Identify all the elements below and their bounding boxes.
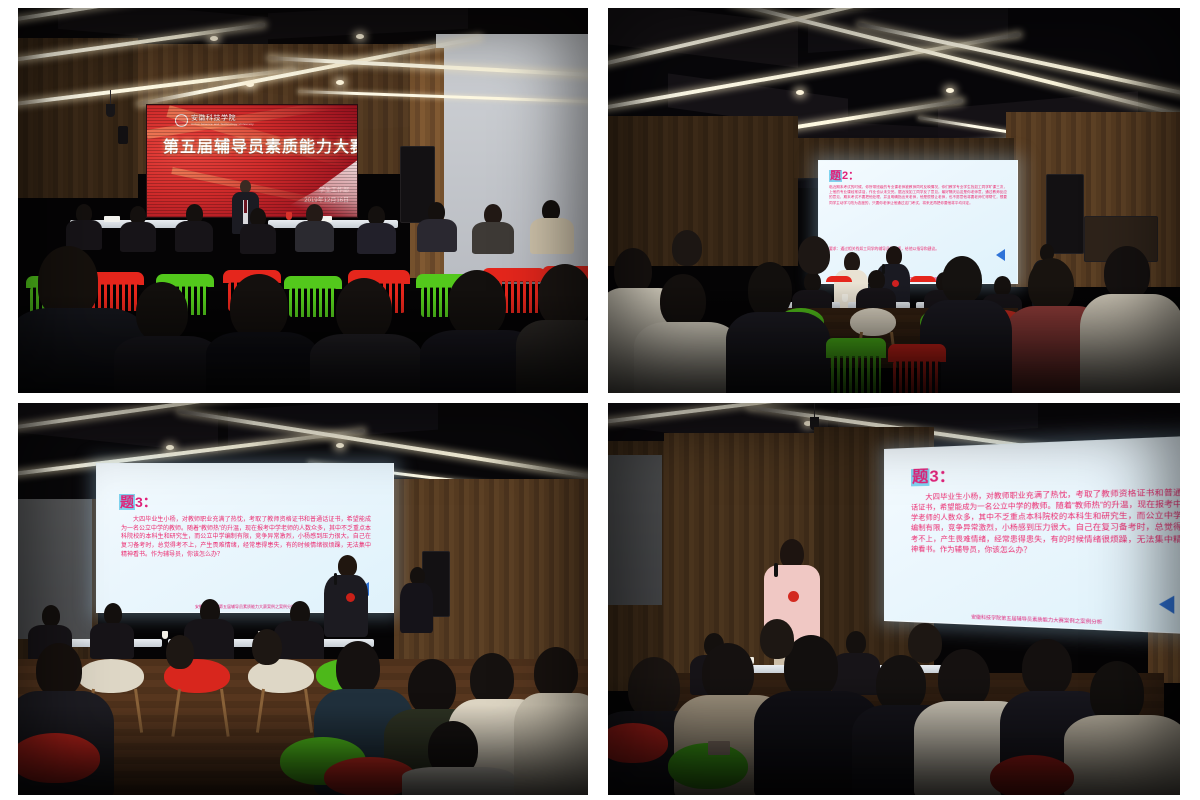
slide-title: 题3： bbox=[911, 461, 955, 487]
slide-title-suffix: ： bbox=[143, 494, 157, 510]
slide-title-prefix: 题 bbox=[829, 170, 842, 182]
slide-title-number: 3 bbox=[929, 468, 938, 486]
slide-body-text: 大四毕业生小杨，对教师职业充满了热忱，考取了教师资格证书和普通话证书，希望能成为… bbox=[911, 488, 1180, 558]
ceiling-spotlight bbox=[336, 80, 344, 85]
panel-top-left: 安徽科技学院 Anhui Science and Technology Univ… bbox=[18, 8, 588, 393]
ceiling-spotlight bbox=[166, 445, 174, 450]
slide-body-text: 临近期末考试的时候，你所带班级的专业课老师被教师同时反映情况，你们教学专业学生找… bbox=[829, 185, 1007, 206]
panel-top-right: 题2： 临近期末考试的时候，你所带班级的专业课老师被教师同时反映情况，你们教学专… bbox=[608, 8, 1180, 393]
wall-speaker bbox=[118, 126, 128, 144]
slide-title: 题2： bbox=[829, 167, 859, 183]
slide-triangle-marker bbox=[1159, 595, 1174, 614]
ceiling-spotlight bbox=[946, 88, 954, 93]
seal-icon bbox=[175, 114, 188, 127]
slide-title: 题3： bbox=[119, 492, 157, 512]
projection-slide: 题3： 大四毕业生小杨，对教师职业充满了热忱，考取了教师资格证书和普通话证书，希… bbox=[884, 435, 1180, 635]
ceiling-spotlight bbox=[246, 82, 254, 87]
microphone bbox=[774, 563, 778, 577]
banner-title: 第五届辅导员素质能力大赛 bbox=[163, 133, 358, 157]
ceiling-spotlight bbox=[796, 90, 804, 95]
slide-title-prefix: 题 bbox=[119, 494, 135, 510]
panel-bottom-left: 题3： 大四毕业生小杨，对教师职业充满了热忱，考取了教师资格证书和普通话证书，希… bbox=[18, 403, 588, 795]
ceiling-spotlight bbox=[210, 36, 218, 41]
slide-title-prefix: 题 bbox=[911, 469, 929, 487]
slide-body-text: 大四毕业生小杨，对教师职业充满了热忱，考取了教师资格证书和普通话证书，希望能成为… bbox=[121, 516, 371, 559]
slide-title-number: 3 bbox=[135, 494, 143, 510]
banner-subtitle-1: 学生工作部 bbox=[319, 187, 349, 195]
university-name: 安徽科技学院 bbox=[191, 115, 254, 122]
microphone bbox=[334, 573, 337, 585]
panel-bottom-right: 题3： 大四毕业生小杨，对教师职业充满了热忱，考取了教师资格证书和普通话证书，希… bbox=[608, 403, 1180, 795]
cup bbox=[162, 631, 168, 639]
pendant-lamp bbox=[106, 104, 115, 117]
slide-triangle-marker bbox=[996, 249, 1005, 261]
ceiling-spotlight bbox=[336, 443, 344, 448]
cup bbox=[286, 212, 292, 220]
slide-requirement-text: 要求：通过相关找如工同学的辅导员王老师，给他以指导和建议。 bbox=[829, 247, 1007, 252]
university-logo: 安徽科技学院 Anhui Science and Technology Univ… bbox=[175, 114, 254, 127]
slide-title-suffix: ： bbox=[848, 170, 859, 182]
speaker-cabinet bbox=[1046, 174, 1084, 254]
paper-sheet bbox=[104, 216, 120, 222]
slide-title-suffix: ： bbox=[939, 468, 956, 486]
university-name-en: Anhui Science and Technology University bbox=[191, 122, 254, 126]
ceiling-spotlight bbox=[356, 34, 364, 39]
photo-collage: 安徽科技学院 Anhui Science and Technology Univ… bbox=[0, 0, 1200, 800]
